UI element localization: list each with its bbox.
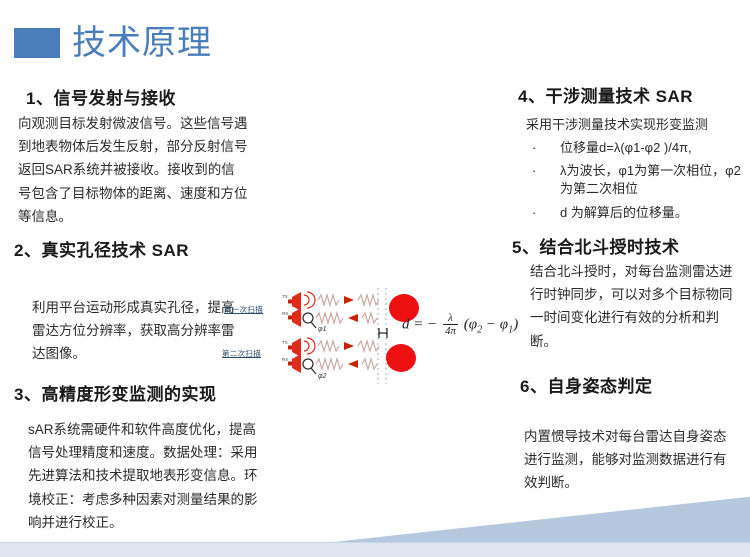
formula-fraction: λ 4π bbox=[443, 312, 458, 338]
bullet-marker: · bbox=[532, 139, 536, 157]
section-2-body: 利用平台运动形成真实孔径，提高雷达方位分辨率，获取高分辨率雷达图像。 bbox=[32, 296, 242, 366]
phase-label-second: φ2 bbox=[318, 373, 326, 380]
section-5-heading: 5、结合北斗授时技术 bbox=[512, 233, 679, 258]
section-6-body: 内置惯导技术对每台雷达自身姿态进行监测，能够对监测数据进行有效判断。 bbox=[524, 425, 734, 495]
tx-label-second: TX bbox=[282, 340, 288, 345]
bullet-text: λ为波长，φ1为第一次相位，φ2为第二次相位 bbox=[560, 163, 741, 196]
section-3-body: sAR系统需硬件和软件高度优化，提高信号处理精度和速度。数据处理：采用先进算法和… bbox=[28, 418, 260, 534]
rx-label-second: RX bbox=[282, 357, 288, 362]
bullet-marker: · bbox=[532, 162, 536, 180]
section-4-content: 采用干涉测量技术实现形变监测 · 位移量d=λ(φ1-φ2 )/4π, · λ为… bbox=[526, 115, 748, 227]
second-scan-group bbox=[288, 338, 379, 374]
section-1-body: 向观测目标发射微波信号。这些信号遇到地表物体后发生反射，部分反射信号返回SAR系… bbox=[18, 112, 248, 228]
list-item: · d 为解算后的位移量。 bbox=[526, 204, 748, 222]
formula-phi2: φ bbox=[469, 316, 477, 332]
section-4-bullet-list: · 位移量d=λ(φ1-φ2 )/4π, · λ为波长，φ1为第一次相位，φ2为… bbox=[526, 139, 748, 223]
bullet-text: 位移量d=λ(φ1-φ2 )/4π, bbox=[560, 140, 692, 155]
phase-label-first: φ1 bbox=[318, 326, 326, 333]
formula-denominator: 4π bbox=[443, 325, 458, 337]
section-4-lead: 采用干涉测量技术实现形变监测 bbox=[526, 115, 748, 135]
rx-label-first: RX bbox=[282, 311, 288, 316]
slide-canvas: 技术原理 1、信号发射与接收 向观测目标发射微波信号。这些信号遇到地表物体后发生… bbox=[0, 0, 750, 557]
footer-band bbox=[0, 542, 750, 557]
section-5-body: 结合北斗授时，对每台监测雷达进行时钟同步，可以对多个目标物同一时间变化进行有效的… bbox=[530, 260, 742, 353]
section-1-heading: 1、信号发射与接收 bbox=[26, 84, 176, 109]
formula-lhs: d bbox=[402, 316, 410, 332]
insar-scan-diagram: 第一次扫描 第二次扫描 bbox=[222, 286, 504, 386]
tx-label-first: TX bbox=[282, 294, 288, 299]
list-item: · λ为波长，φ1为第一次相位，φ2为第二次相位 bbox=[526, 162, 748, 199]
list-item: · 位移量d=λ(φ1-φ2 )/4π, bbox=[526, 139, 748, 157]
bullet-text: d 为解算后的位移量。 bbox=[560, 205, 688, 220]
section-3-heading: 3、高精度形变监测的实现 bbox=[14, 380, 216, 405]
decorative-diagonal-shape-1 bbox=[280, 495, 750, 543]
diagram-second-scan-label: 第二次扫描 bbox=[222, 348, 261, 359]
bullet-marker: · bbox=[532, 204, 536, 222]
formula-paren-close: ) bbox=[513, 316, 518, 332]
target-ellipse-second bbox=[386, 344, 416, 372]
slide-title-row: 技术原理 bbox=[14, 26, 212, 60]
first-scan-group bbox=[288, 292, 379, 328]
formula-phi1: φ bbox=[500, 316, 508, 332]
displacement-formula: d = − λ 4π (φ2 − φ1) bbox=[402, 312, 518, 338]
formula-numerator: λ bbox=[443, 312, 458, 325]
section-2-heading: 2、真实孔径技术 SAR bbox=[14, 236, 189, 261]
section-6-heading: 6、自身姿态判定 bbox=[520, 372, 652, 397]
title-marker-square bbox=[14, 28, 60, 58]
page-title: 技术原理 bbox=[72, 26, 212, 60]
diagram-first-scan-label: 第一次扫描 bbox=[224, 304, 263, 315]
formula-equals: = − bbox=[413, 316, 437, 332]
section-4-heading: 4、干涉测量技术 SAR bbox=[518, 82, 693, 107]
formula-minus: − bbox=[482, 316, 500, 332]
